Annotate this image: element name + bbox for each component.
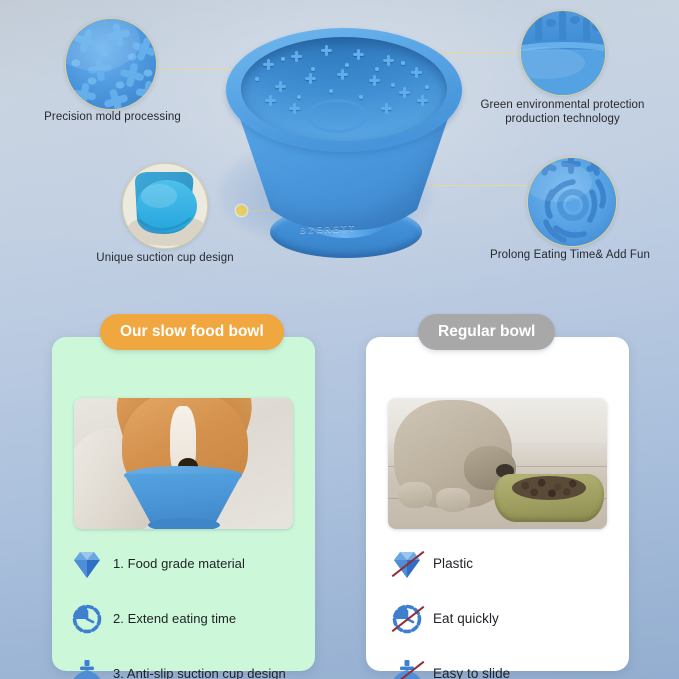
feature-label: 1. Food grade material	[113, 556, 245, 571]
feature-label: 2. Extend eating time	[113, 611, 236, 626]
diamond-icon	[390, 547, 424, 581]
comparison-card-regular-bowl: Plastic Eat quickly	[366, 337, 629, 671]
feature-row: Eat quickly	[366, 597, 629, 640]
feature-list-regular-bowl: Plastic Eat quickly	[366, 542, 629, 679]
feature-row: 3. Anti-slip suction cup design	[52, 652, 315, 679]
hero-product-section: BZERETT	[0, 0, 679, 292]
callout-circle-suction-cup	[122, 163, 208, 249]
photo-regular-bowl	[388, 398, 607, 529]
callout-circle-precision-mold	[65, 18, 157, 110]
callout-label-suction-cup: Unique suction cup design	[70, 251, 260, 265]
feature-list-our-bowl: 1. Food grade material 2. Extend eating …	[52, 542, 315, 679]
feature-row: 1. Food grade material	[52, 542, 315, 585]
badge-regular-bowl: Regular bowl	[418, 314, 555, 350]
bowl-center-spiral	[307, 99, 367, 133]
callout-label-precision-mold: Precision mold processing	[10, 110, 215, 124]
callout-circle-green-production	[520, 10, 606, 96]
infographic-page: BZERETT	[0, 0, 679, 679]
callout-label-green-production: Green environmental protection productio…	[455, 98, 670, 126]
clock-icon	[390, 602, 424, 636]
diamond-icon	[70, 547, 104, 581]
clock-icon	[70, 602, 104, 636]
comparison-section: 1. Food grade material 2. Extend eating …	[0, 292, 679, 679]
photo-our-bowl	[74, 398, 293, 529]
callout-circle-prolong-eating	[527, 157, 617, 247]
feature-label: Easy to slide	[433, 666, 510, 679]
badge-our-slow-food-bowl: Our slow food bowl	[100, 314, 284, 350]
suction-cup-icon	[390, 657, 424, 679]
callout-label-prolong-eating: Prolong Eating Time& Add Fun	[470, 248, 670, 262]
suction-cup-icon	[70, 657, 104, 679]
feature-label: Eat quickly	[433, 611, 499, 626]
feature-row: Plastic	[366, 542, 629, 585]
feature-row: Easy to slide	[366, 652, 629, 679]
product-bowl-image: BZERETT	[212, 18, 470, 270]
feature-label: 3. Anti-slip suction cup design	[113, 666, 286, 679]
feature-row: 2. Extend eating time	[52, 597, 315, 640]
comparison-card-our-bowl: 1. Food grade material 2. Extend eating …	[52, 337, 315, 671]
bowl-inner-cavity	[241, 37, 447, 141]
feature-label: Plastic	[433, 556, 473, 571]
